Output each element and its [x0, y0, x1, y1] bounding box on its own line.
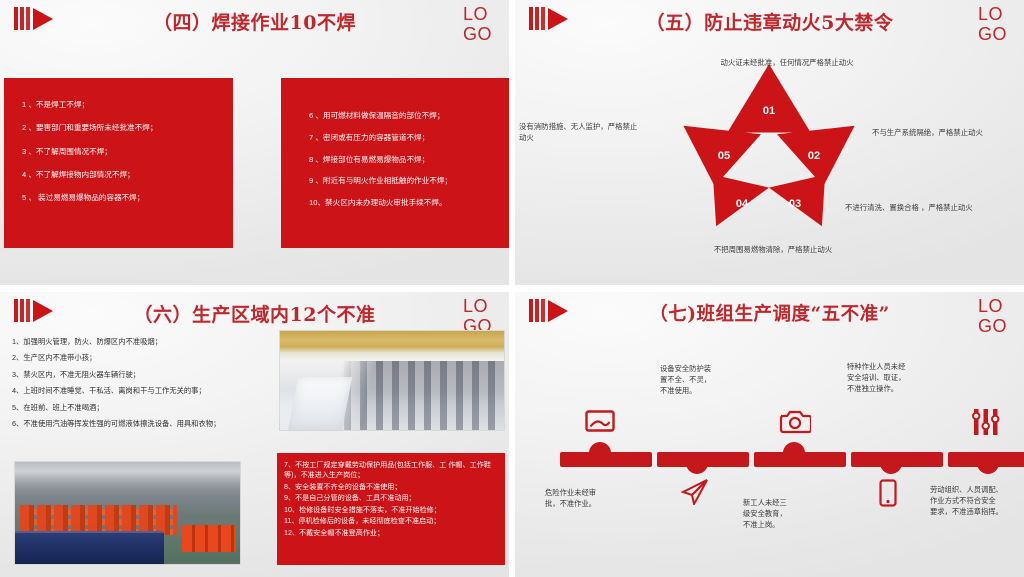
list-item: 1 、不是焊工不焊；	[22, 100, 223, 110]
star-label-04: 不把周围易燃物清除，严格禁止动火	[640, 245, 906, 256]
list-item: 4、上班时间不准睡觉、干私活、离岗和干与工作无关的事；	[12, 386, 252, 397]
timeline-knob-1	[589, 442, 611, 464]
list-item: 9 、附近有与明火作业相抵触的作业不焊；	[309, 176, 499, 186]
star-label-03: 不进行清洗、置换合格 ，严格禁止动火	[845, 203, 1023, 214]
list-item: 7 、密闭或有压力的容器管道不焊；	[309, 133, 499, 143]
smartphone-icon	[879, 479, 897, 512]
star-point-number: 04	[736, 198, 749, 210]
monitor-icon	[585, 410, 615, 439]
timeline-label-5: 劳动组织、人员调配、 作业方式不符合安全 要求，不准违章指挥。	[930, 485, 1024, 518]
list-item: 12、不戴安全帽不准登高作业；	[284, 528, 498, 538]
paper-plane-icon	[681, 479, 709, 510]
list-item: 6 、用可燃材料做保温隔音的部位不焊；	[309, 111, 499, 121]
list-item: 11、停机检修后的设备，未经彻底检查不准启动；	[284, 516, 498, 526]
slide-welding-10-no-weld: LOGO （四）焊接作业10不焊 1 、不是焊工不焊； 2 、要害部门和重要场所…	[0, 0, 509, 285]
row-gap	[0, 285, 1024, 292]
list-item: 6、不准使用汽油等挥发性强的可燃液体擦洗设备、用具和衣物；	[12, 419, 252, 430]
timeline-label-3: 新工人未经三 级安全教育， 不准上岗。	[743, 498, 843, 531]
list-item: 5、在班前、班上不准喝酒；	[12, 403, 252, 414]
timeline-knob-4	[880, 452, 902, 474]
star-label-05: 没有消防措施、无人监护，严格禁止动火	[519, 122, 643, 143]
page-title: （六）生产区域内12个不准	[0, 300, 509, 327]
list-item: 4 、不了解焊接物内部情况不焊；	[22, 170, 223, 180]
timeline-label-1: 危险作业未经审 批，不准作业。	[545, 488, 645, 510]
timeline-knob-3	[783, 442, 805, 464]
five-point-star-icon: 01 02 03 04 05	[656, 62, 882, 242]
star-point-number: 01	[763, 105, 775, 117]
timeline-label-2: 设备安全防护装 置不全、不灵， 不准使用。	[660, 364, 760, 397]
camera-icon	[779, 408, 811, 439]
list-item: 8、安全装置不齐全的设备不准使用；	[284, 482, 498, 492]
star-point-number: 03	[789, 198, 801, 210]
sliders-icon	[971, 408, 1001, 441]
factory-line-photo	[279, 330, 505, 431]
star-label-01: 动火证未经批准，任何情况严格禁止动火	[672, 58, 902, 69]
star-label-02: 不与生产系统隔绝，严格禁止动火	[872, 128, 1024, 139]
timeline-knob-5	[977, 452, 999, 474]
list-item: 10、检修设备时安全措施不落实，不准开始检修；	[284, 505, 498, 515]
list-item: 3、禁火区内，不准无阻火器车辆行驶；	[12, 370, 252, 381]
page-title: （四）焊接作业10不焊	[0, 8, 509, 35]
slide-five-hot-work-bans: LOGO （五）防止违章动火5大禁令 01 02 03 04 05	[515, 0, 1024, 285]
list-item: 8 、焊接部位有易燃易爆物品不焊；	[309, 155, 499, 165]
slide-five-no-dispatch: LOGO （七)班组生产调度“五不准”	[515, 292, 1024, 577]
list-item: 7、不按工厂规定穿戴劳动保护用品(包括工作服、工 作帽、工作鞋等)，不准进入生产…	[284, 460, 498, 480]
welding-rules-box-right: 6 、用可燃材料做保温隔音的部位不焊； 7 、密闭或有压力的容器管道不焊； 8 …	[281, 78, 509, 248]
welding-rules-box-left: 1 、不是焊工不焊； 2 、要害部门和重要场所未经批准不焊； 3 、不了解周围情…	[4, 78, 233, 248]
star-point-number: 05	[718, 150, 730, 162]
welding-rules-list-right: 6 、用可燃材料做保温隔音的部位不焊； 7 、密闭或有压力的容器管道不焊； 8 …	[281, 78, 509, 208]
list-item: 3 、不了解周围情况不焊；	[22, 147, 223, 157]
prohibition-plain-list: 1、加强明火管理，防火、防爆区内不准吸烟； 2、生产区内不准带小孩； 3、禁火区…	[12, 337, 252, 436]
list-item: 1、加强明火管理，防火、防爆区内不准吸烟；	[12, 337, 252, 348]
star-diagram: 01 02 03 04 05 动火证未经批准，任何情况严格禁止动火 不与生产系统…	[515, 0, 1024, 285]
list-item: 10、禁火区内未办理动火审批手续不焊。	[309, 198, 499, 208]
timeline-diagram: 危险作业未经审 批，不准作业。 设备安全防护装 置不全、不灵， 不准使用。 新工…	[515, 292, 1024, 577]
list-item: 2 、要害部门和重要场所未经批准不焊；	[22, 123, 223, 133]
welding-rules-list-left: 1 、不是焊工不焊； 2 、要害部门和重要场所未经批准不焊； 3 、不了解周围情…	[4, 78, 233, 203]
prohibition-red-list: 7、不按工厂规定穿戴劳动保护用品(包括工作服、工 作帽、工作鞋等)，不准进入生产…	[277, 453, 505, 538]
timeline-label-4: 特种作业人员未经 安全培训、取证， 不准独立操作。	[847, 362, 957, 395]
assembly-hall-photo	[14, 461, 241, 565]
timeline-knob-2	[686, 452, 708, 474]
star-point-number: 02	[808, 150, 820, 162]
list-item: 5 、 装过易燃易爆物品的容器不焊；	[22, 193, 223, 203]
list-item: 2、生产区内不准带小孩；	[12, 353, 252, 364]
list-item: 9、不是自己分管的设备、工具不准动用；	[284, 493, 498, 503]
prohibition-red-box: 7、不按工厂规定穿戴劳动保护用品(包括工作服、工 作帽、工作鞋等)，不准进入生产…	[277, 453, 505, 565]
